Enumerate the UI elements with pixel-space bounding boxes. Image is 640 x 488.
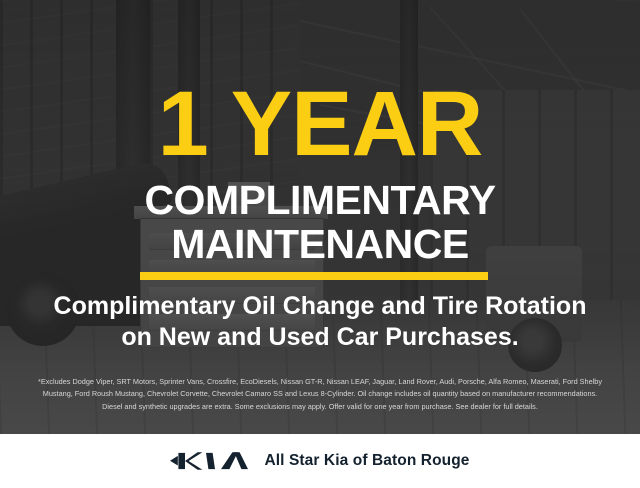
headline-one-year: 1 YEAR [0,78,640,170]
kia-logo [170,451,248,471]
yellow-divider-rule [140,272,488,280]
offer-tagline-line-1: Complimentary Oil Change and Tire Rotati… [54,292,587,320]
ad-copy-layer: 1 YEAR COMPLIMENTARY MAINTENANCE Complim… [0,0,640,434]
dealer-name-label: All Star Kia of Baton Rouge [264,452,469,470]
subheadline: COMPLIMENTARY MAINTENANCE [0,178,640,266]
subheadline-line-2: MAINTENANCE [0,222,640,266]
offer-tagline: Complimentary Oil Change and Tire Rotati… [0,291,640,353]
dealer-footer-bar: All Star Kia of Baton Rouge [0,434,640,488]
subheadline-line-1: COMPLIMENTARY [144,177,495,223]
offer-tagline-line-2: on New and Used Car Purchases. [0,322,640,353]
promotional-ad-banner: 1 YEAR COMPLIMENTARY MAINTENANCE Complim… [0,0,640,488]
disclaimer-line-2: Mustang, Ford Roush Mustang, Chevrolet C… [14,388,626,400]
disclaimer-line-1: *Excludes Dodge Viper, SRT Motors, Sprin… [14,376,626,388]
disclaimer-line-3: Diesel and synthetic upgrades are extra.… [14,401,626,413]
disclaimer-text: *Excludes Dodge Viper, SRT Motors, Sprin… [14,376,626,413]
